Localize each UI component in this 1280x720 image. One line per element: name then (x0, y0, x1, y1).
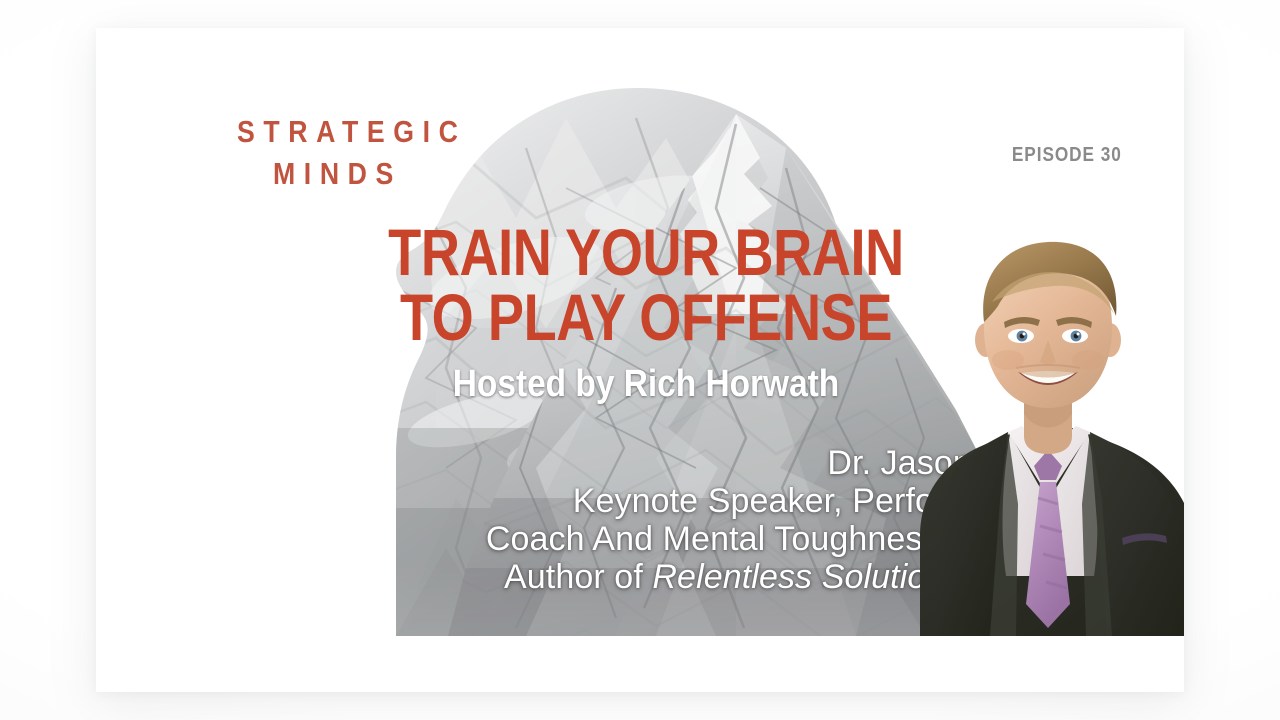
author-prefix: Author of (504, 558, 652, 596)
logo-line-minds: MINDS (273, 158, 500, 189)
podcast-logo: STRATEGIC MINDS (237, 116, 537, 189)
logo-line-strategic: STRATEGIC (237, 116, 495, 147)
episode-title: TRAIN YOUR BRAIN TO PLAY OFFENSE (359, 220, 933, 349)
podcast-title-slide: STRATEGIC MINDS EPISODE 30 TRAIN YOUR BR… (96, 28, 1184, 636)
episode-label: EPISODE 30 (1012, 144, 1122, 167)
slide-stage: STRATEGIC MINDS EPISODE 30 TRAIN YOUR BR… (0, 0, 1280, 720)
guest-photo (858, 236, 1184, 636)
